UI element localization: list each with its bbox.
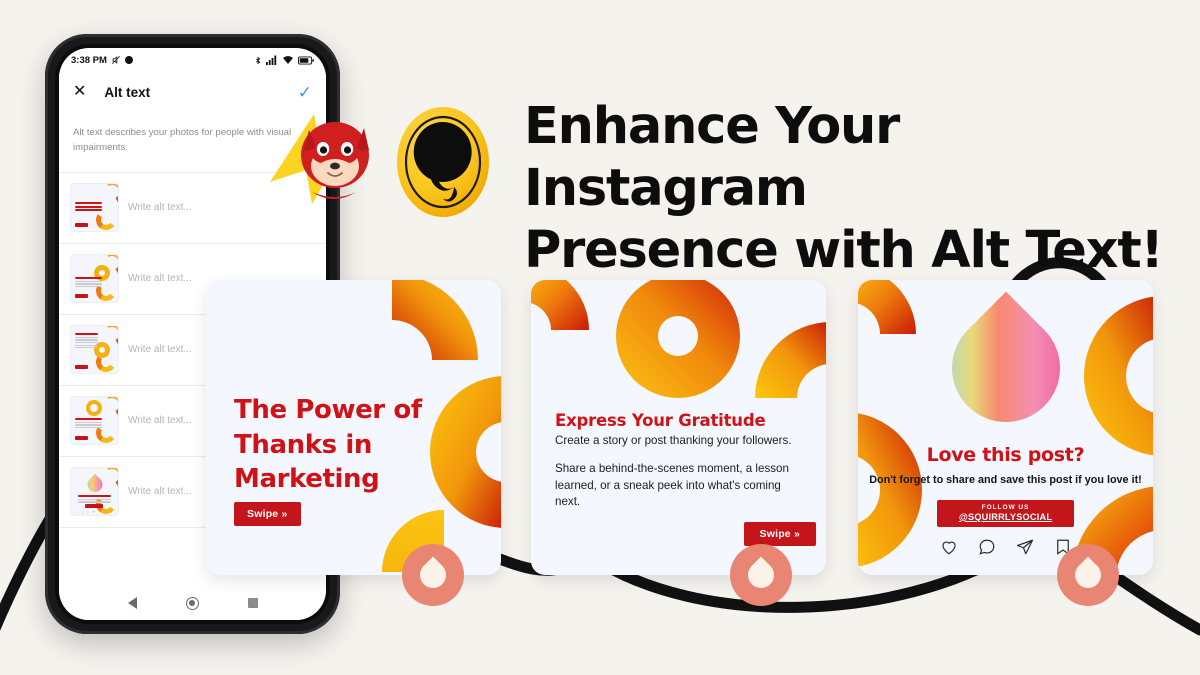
- heart-icon[interactable]: [940, 538, 958, 556]
- back-button-icon[interactable]: [128, 597, 137, 609]
- carousel-card-1[interactable]: The Power of Thanks in Marketing Swipe »: [206, 280, 501, 575]
- wifi-icon: [282, 55, 294, 65]
- heart-shape-icon: [743, 557, 780, 594]
- heart-badge-3: [1057, 544, 1119, 606]
- android-nav-bar: [59, 586, 326, 620]
- heart-shape-icon: [415, 557, 452, 594]
- headline-line-2: Presence with Alt Text!: [524, 220, 1164, 282]
- slide-thumbnail: [71, 184, 118, 231]
- alt-text-input[interactable]: Write alt text...: [128, 344, 192, 355]
- heart-badge-1: [402, 544, 464, 606]
- status-bar: 3:38 PM: [59, 48, 326, 72]
- comment-icon[interactable]: [978, 538, 996, 556]
- carousel-card-3[interactable]: Love this post? Don't forget to share an…: [858, 280, 1153, 575]
- check-icon[interactable]: ✓: [298, 84, 312, 101]
- heart-badge-2: [730, 544, 792, 606]
- swipe-button[interactable]: Swipe »: [234, 502, 301, 526]
- card-2-paragraph-2: Share a behind-the-scenes moment, a less…: [555, 461, 803, 510]
- home-button-icon[interactable]: [186, 597, 199, 610]
- cellular-signal-icon: [266, 55, 278, 65]
- card-2-heading: Express Your Gratitude: [555, 411, 765, 430]
- bluetooth-icon: [254, 55, 262, 66]
- squirrly-logo-icon: [394, 104, 492, 220]
- headline-line-1: Enhance Your Instagram: [524, 96, 1164, 220]
- gradient-heart-icon: [929, 292, 1082, 445]
- slide-thumbnail: [71, 255, 118, 302]
- slide-thumbnail: [71, 326, 118, 373]
- instagram-handle: @SQUIRRLYSOCIAL: [959, 512, 1052, 522]
- mute-icon: [111, 55, 121, 65]
- card-3-title: Love this post?: [858, 444, 1153, 466]
- recents-button-icon[interactable]: [248, 598, 258, 608]
- status-time: 3:38 PM: [71, 55, 107, 66]
- battery-icon: [298, 56, 314, 65]
- slide-thumbnail: ♡ ◯ ▷ ☰: [71, 468, 118, 515]
- share-icon[interactable]: [1016, 538, 1034, 556]
- alt-text-input[interactable]: Write alt text...: [128, 202, 192, 213]
- close-icon[interactable]: ✕: [73, 84, 86, 100]
- page-title: Alt text: [104, 85, 150, 100]
- squirrly-mascot-icon: [268, 108, 378, 208]
- alt-text-input[interactable]: Write alt text...: [128, 486, 192, 497]
- poster-canvas: 3:38 PM: [0, 0, 1200, 675]
- card-3-subtitle: Don't forget to share and save this post…: [858, 473, 1153, 488]
- carousel-card-2[interactable]: Express Your Gratitude Create a story or…: [531, 280, 826, 575]
- follow-us-label: FOLLOW US: [959, 504, 1052, 511]
- follow-us-button[interactable]: FOLLOW US @SQUIRRLYSOCIAL: [937, 500, 1074, 527]
- camera-punch-hole: [125, 56, 133, 64]
- card-2-body: Create a story or post thanking your fol…: [555, 433, 803, 511]
- alt-text-input[interactable]: Write alt text...: [128, 273, 192, 284]
- app-bar: ✕ Alt text ✓: [59, 72, 326, 112]
- page-headline: Enhance Your Instagram Presence with Alt…: [524, 96, 1164, 283]
- slide-thumbnail: [71, 397, 118, 444]
- swipe-button[interactable]: Swipe »: [744, 522, 817, 546]
- card-1-title: The Power of Thanks in Marketing: [234, 393, 444, 497]
- card-2-paragraph-1: Create a story or post thanking your fol…: [555, 433, 803, 449]
- heart-shape-icon: [1070, 557, 1107, 594]
- alt-text-input[interactable]: Write alt text...: [128, 415, 192, 426]
